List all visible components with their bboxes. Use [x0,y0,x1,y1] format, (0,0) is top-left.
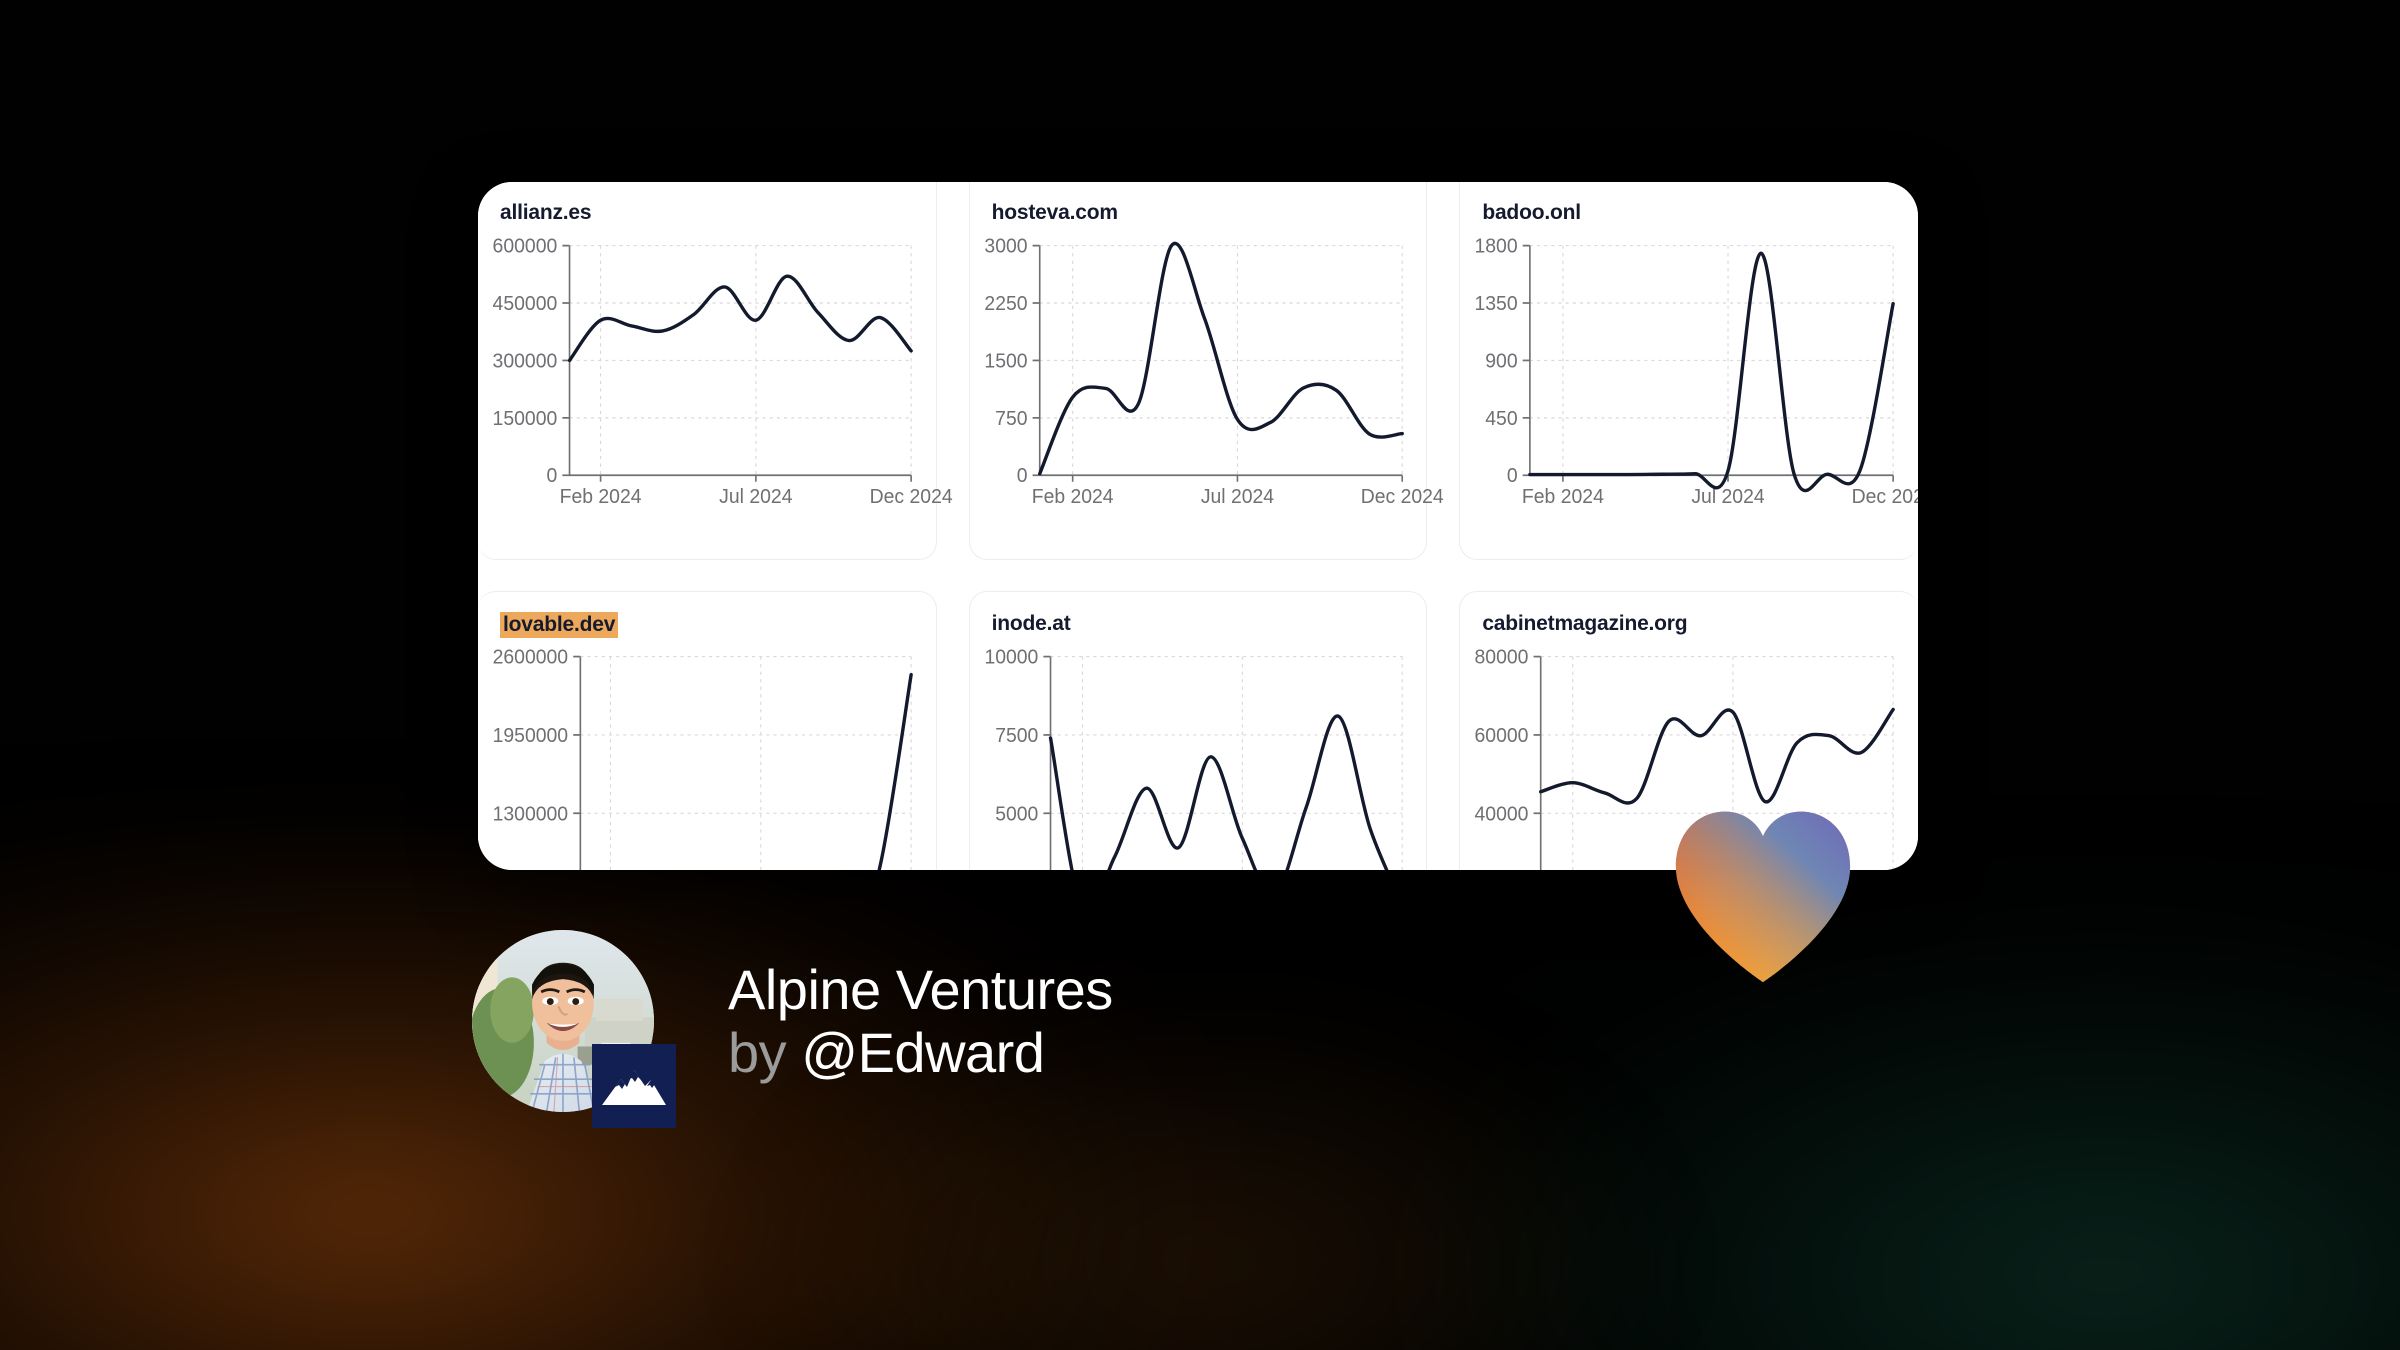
y-axis-label: 0 [1016,465,1027,488]
chart-title: inode.at [992,612,1071,636]
chart-line-series [1530,253,1893,490]
chart-line-series [580,675,911,870]
y-axis-label: 2250 [984,293,1027,316]
byline: by @Edward [728,1021,1113,1084]
y-axis-label: 600000 [493,235,558,258]
chart-title: badoo.onl [1482,201,1581,225]
byline-prefix: by [728,1021,786,1084]
chart-plot: 0150000300000450000600000Feb 2024Jul 202… [478,237,936,559]
chart-plot: 045090013501800Feb 2024Jul 2024Dec 2024 [1460,237,1918,559]
chart-line-series [1039,243,1401,473]
x-axis-label: Jul 2024 [719,486,792,509]
chart-title: cabinetmagazine.org [1482,612,1687,636]
y-axis-label: 1350 [1475,293,1518,316]
charts-grid: allianz.es0150000300000450000600000Feb 2… [478,182,1918,870]
y-axis-label: 450 [1486,407,1518,430]
y-axis-label: 3000 [984,235,1027,258]
y-axis-label: 10000 [984,646,1038,669]
chart-cell[interactable]: badoo.onl045090013501800Feb 2024Jul 2024… [1459,182,1918,560]
y-axis-label: 1800 [1475,235,1518,258]
footer-titles: Alpine Ventures by @Edward [728,958,1113,1085]
mountain-icon [592,1044,676,1128]
chart-line-series [570,276,912,360]
chart-cell[interactable]: inode.at25005000750010000 [969,591,1428,870]
x-axis-label: Feb 2024 [560,486,642,509]
y-axis-label: 60000 [1475,725,1529,748]
y-axis-label: 150000 [493,407,558,430]
chart-title: allianz.es [500,201,591,225]
dashboard-card: allianz.es0150000300000450000600000Feb 2… [478,182,1918,870]
y-axis-label: 1500 [984,350,1027,373]
heart-icon [1668,806,1858,984]
y-axis-label: 450000 [493,293,558,316]
chart-line-series [1050,716,1402,870]
chart-plot: 650000130000019500002600000 [478,648,936,870]
y-axis-label: 0 [1507,465,1518,488]
x-axis-label: Dec 2024 [870,486,953,509]
y-axis-label: 80000 [1475,646,1529,669]
y-axis-label: 900 [1486,350,1518,373]
y-axis-label: 300000 [493,350,558,373]
byline-handle: @Edward [801,1021,1044,1084]
x-axis-label: Jul 2024 [1692,486,1765,509]
x-axis-label: Feb 2024 [1031,486,1113,509]
chart-line-series [1541,709,1893,803]
chart-cell[interactable]: hosteva.com0750150022503000Feb 2024Jul 2… [969,182,1428,560]
chart-title: hosteva.com [992,201,1118,225]
x-axis-label: Feb 2024 [1522,486,1604,509]
y-axis-label: 2600000 [493,646,569,669]
y-axis-label: 40000 [1475,803,1529,826]
chart-plot: 0750150022503000Feb 2024Jul 2024Dec 2024 [970,237,1427,559]
chart-title: lovable.dev [500,612,618,638]
footer: Alpine Ventures by @Edward [472,930,1113,1112]
y-axis-label: 7500 [995,724,1038,747]
chart-plot: 25005000750010000 [970,648,1427,870]
y-axis-label: 1950000 [493,725,569,748]
avatar-wrap [472,930,654,1112]
chart-cell[interactable]: lovable.dev650000130000019500002600000 [478,591,937,870]
y-axis-label: 0 [546,465,557,488]
x-axis-label: Dec 2024 [1852,486,1918,509]
page-title: Alpine Ventures [728,958,1113,1021]
y-axis-label: 750 [995,407,1027,430]
y-axis-label: 5000 [995,803,1038,826]
y-axis-label: 1300000 [493,803,569,826]
x-axis-label: Jul 2024 [1201,486,1274,509]
x-axis-label: Dec 2024 [1360,486,1443,509]
chart-cell[interactable]: allianz.es0150000300000450000600000Feb 2… [478,182,937,560]
